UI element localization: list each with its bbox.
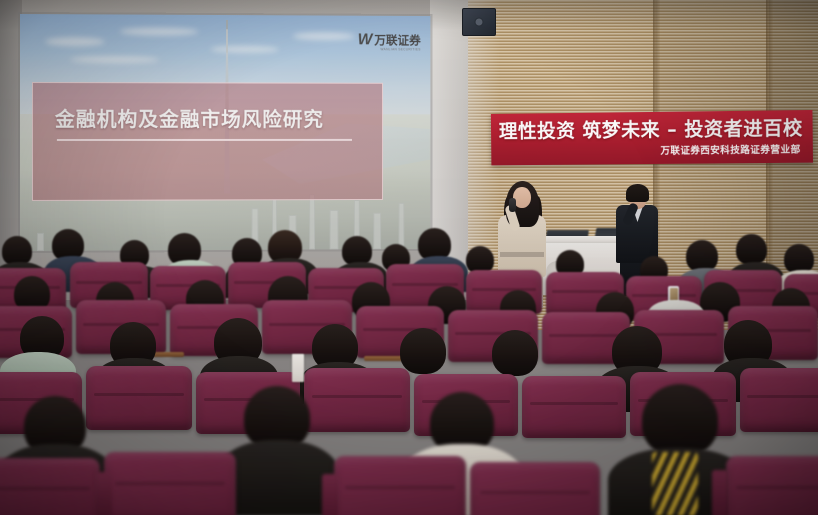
- audience-head: [492, 330, 538, 376]
- auditorium-seat: [86, 366, 192, 430]
- audience-head: [736, 234, 767, 265]
- auditorium-seat: [522, 376, 626, 438]
- auditorium-seat: [470, 462, 600, 515]
- auditorium-seat: [726, 456, 818, 515]
- audience-head: [400, 328, 446, 374]
- seat-armrest: [96, 472, 112, 515]
- auditorium-seat: [104, 452, 236, 515]
- audience-area: [0, 0, 818, 515]
- auditorium-seat: [0, 458, 100, 515]
- auditorium-photo: 金融机构及金融市场风险研究 W 万联证券 WANLIAN SECURITIES …: [0, 0, 818, 515]
- striped-scarf: [652, 452, 698, 515]
- seat-armrest: [712, 470, 728, 515]
- handout-paper: [292, 354, 304, 382]
- seat-armrest: [322, 474, 338, 515]
- auditorium-seat: [304, 368, 410, 432]
- audience-head: [642, 384, 718, 456]
- auditorium-seat: [334, 456, 466, 515]
- auditorium-seat: [740, 368, 818, 432]
